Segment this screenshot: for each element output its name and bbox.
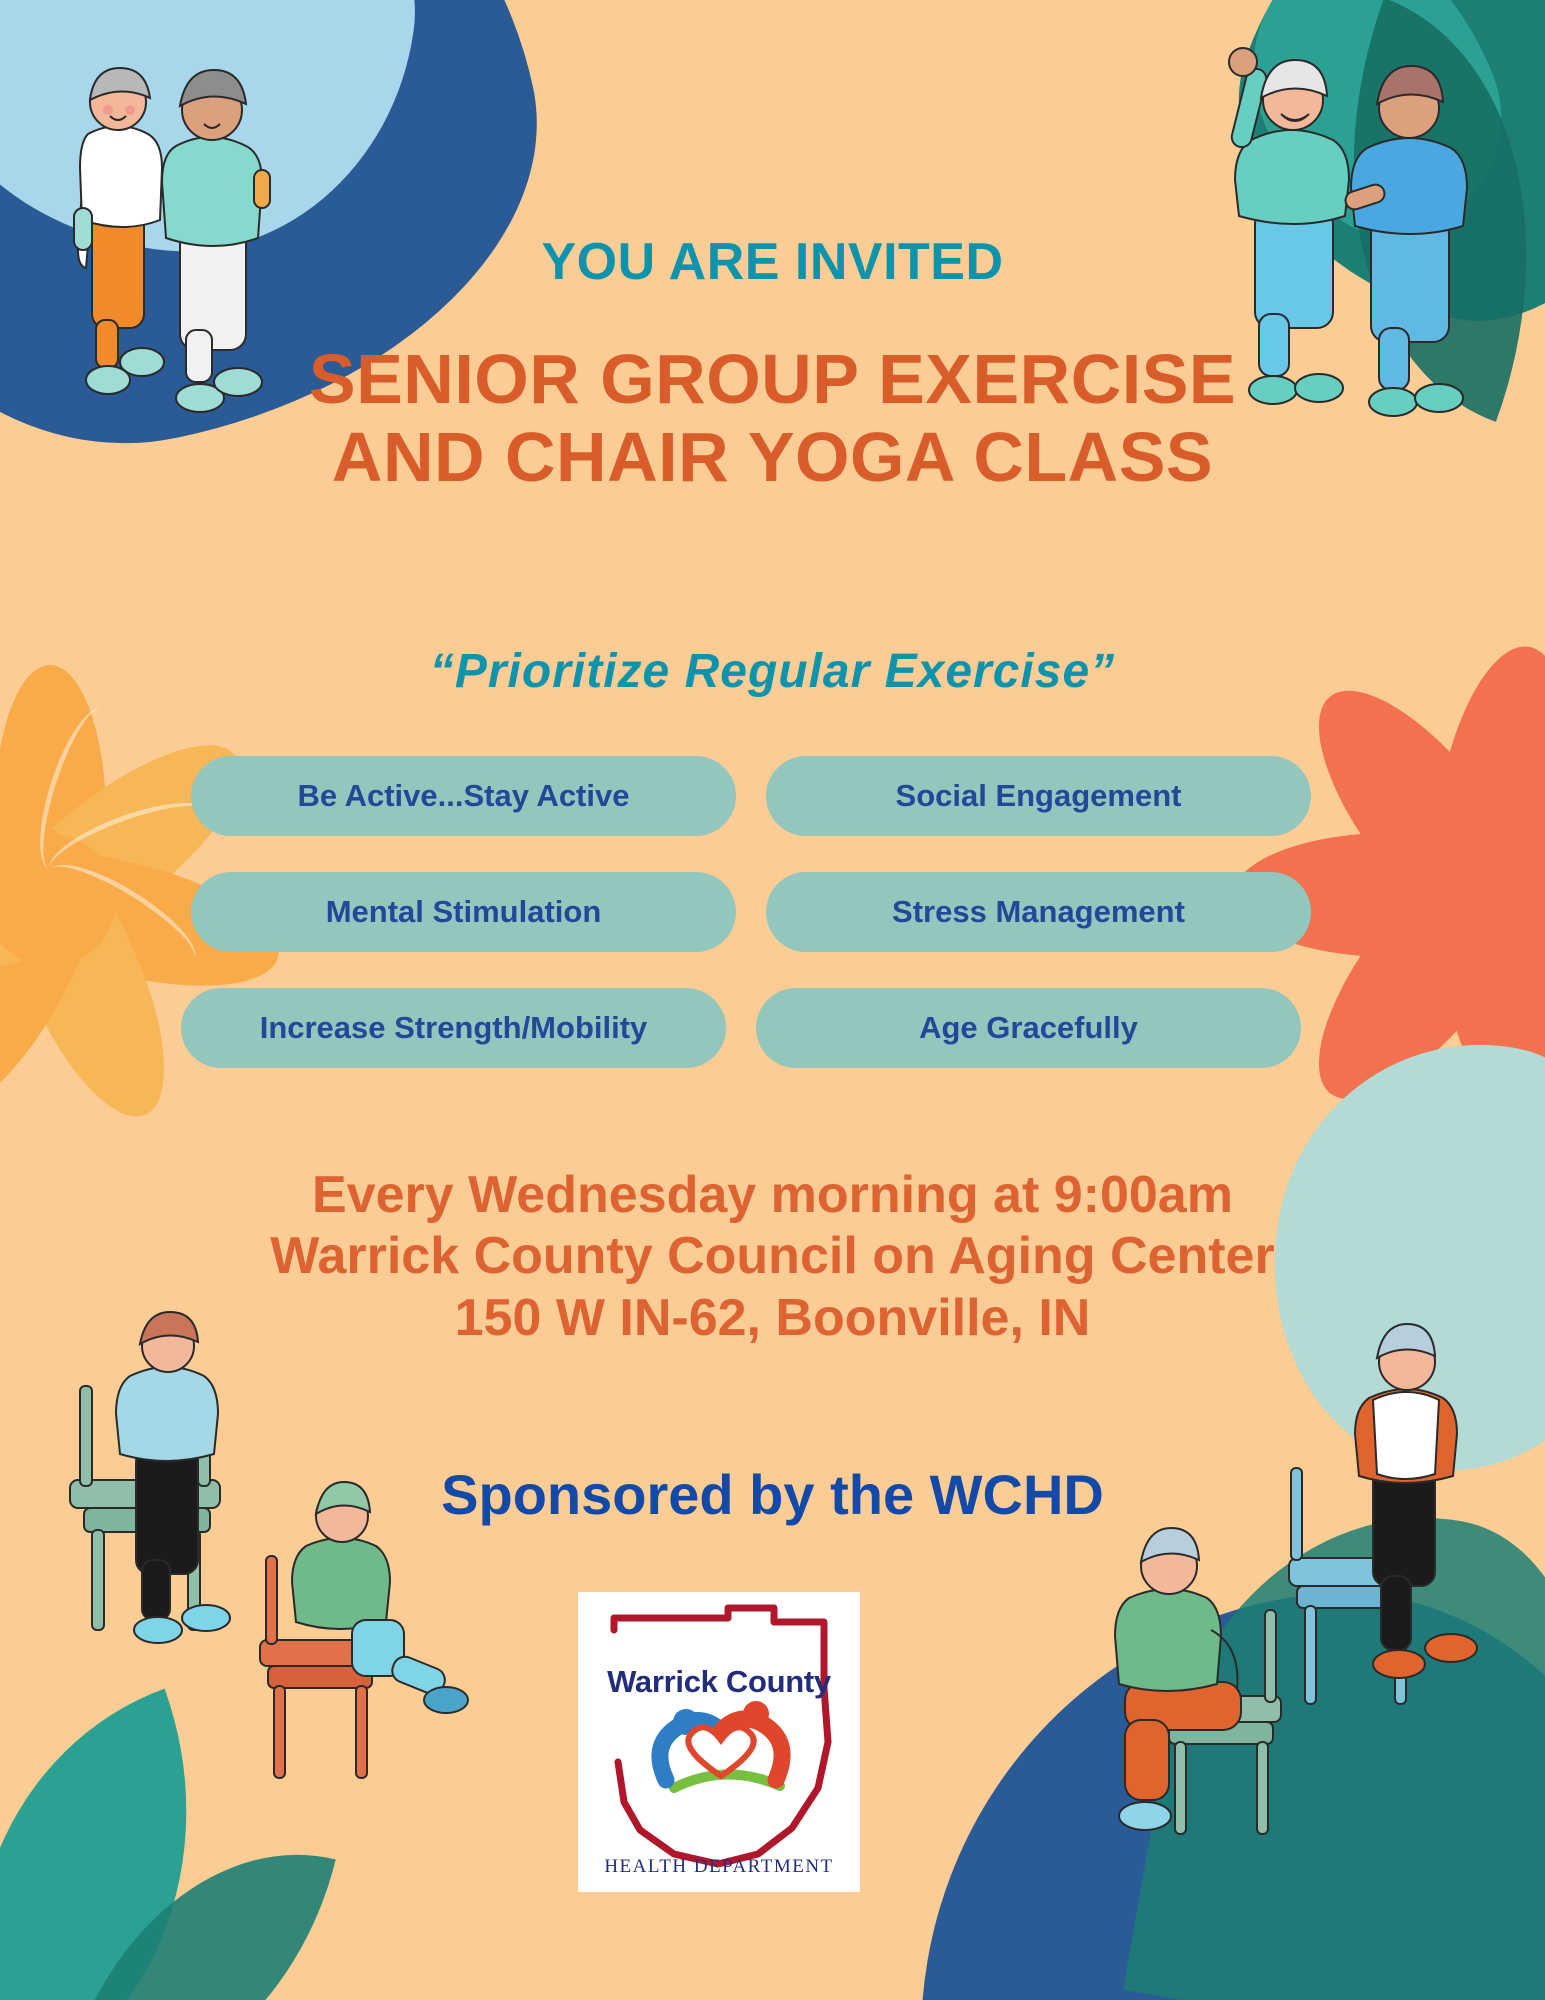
logo-department-name: HEALTH DEPARTMENT [578, 1856, 860, 1878]
benefit-pill-be-active: Be Active...Stay Active [191, 756, 736, 836]
invitation-kicker: YOU ARE INVITED [0, 232, 1545, 292]
warrick-county-health-department-logo: Warrick County HEALTH DEPARTMENT [578, 1592, 860, 1892]
benefit-pill-mental-stimulation: Mental Stimulation [191, 872, 736, 952]
benefit-pill-age-gracefully: Age Gracefully [756, 988, 1301, 1068]
benefit-pill-increase-strength-mobility: Increase Strength/Mobility [181, 988, 726, 1068]
event-schedule: Every Wednesday morning at 9:00am [0, 1165, 1545, 1226]
benefit-pill-stress-management: Stress Management [766, 872, 1311, 952]
benefit-pill-social-engagement: Social Engagement [766, 756, 1311, 836]
event-address: 150 W IN-62, Boonville, IN [0, 1288, 1545, 1349]
sponsor-line: Sponsored by the WCHD [0, 1462, 1545, 1527]
event-venue: Warrick County Council on Aging Center [0, 1226, 1545, 1287]
headline-line-2: AND CHAIR YOGA CLASS [0, 418, 1545, 496]
event-details: Every Wednesday morning at 9:00am Warric… [0, 1165, 1545, 1349]
logo-county-name: Warrick County [578, 1664, 860, 1700]
benefits-row: Be Active...Stay Active Social Engagemen… [175, 756, 1375, 836]
headline-line-1: SENIOR GROUP EXERCISE [309, 340, 1236, 418]
county-outline-and-people-heart-icon [578, 1592, 860, 1892]
flyer-poster: YOU ARE INVITED SENIOR GROUP EXERCISE AN… [0, 0, 1545, 2000]
benefits-row: Mental Stimulation Stress Management [175, 872, 1375, 952]
benefits-list: Be Active...Stay Active Social Engagemen… [175, 756, 1375, 1104]
tagline: “Prioritize Regular Exercise” [0, 644, 1545, 699]
benefits-row: Increase Strength/Mobility Age Gracefull… [175, 988, 1375, 1068]
page-title: SENIOR GROUP EXERCISE AND CHAIR YOGA CLA… [0, 340, 1545, 497]
